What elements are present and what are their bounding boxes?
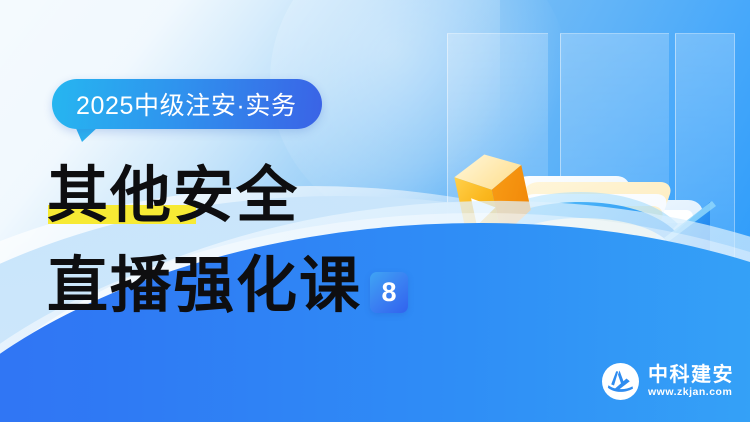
course-tag-label: 2025中级注安·实务 bbox=[76, 86, 297, 122]
brand-texts: 中科建安 www.zkjan.com bbox=[648, 365, 734, 398]
headline-row-2: 直播强化课 8 bbox=[47, 244, 447, 316]
brand-url: www.zkjan.com bbox=[648, 387, 734, 398]
course-tag-pill: 2025中级注安·实务 bbox=[52, 79, 322, 129]
headline-line-1: 其他安全 bbox=[47, 165, 299, 226]
headline-line-2: 直播强化课 bbox=[47, 255, 362, 316]
episode-badge: 8 bbox=[370, 272, 408, 313]
course-banner: 2025中级注安·实务 其他安全 直播强化课 8 bbox=[0, 0, 750, 422]
episode-number: 8 bbox=[382, 279, 397, 306]
zkjan-circle-logo-icon bbox=[602, 363, 639, 400]
brand-logo: 中科建安 www.zkjan.com bbox=[602, 363, 734, 400]
headline-row-1: 其他安全 bbox=[47, 154, 447, 226]
headline: 其他安全 直播强化课 8 bbox=[47, 154, 447, 316]
title-block: 2025中级注安·实务 其他安全 直播强化课 8 bbox=[0, 0, 460, 422]
brand-name: 中科建安 bbox=[648, 365, 734, 385]
